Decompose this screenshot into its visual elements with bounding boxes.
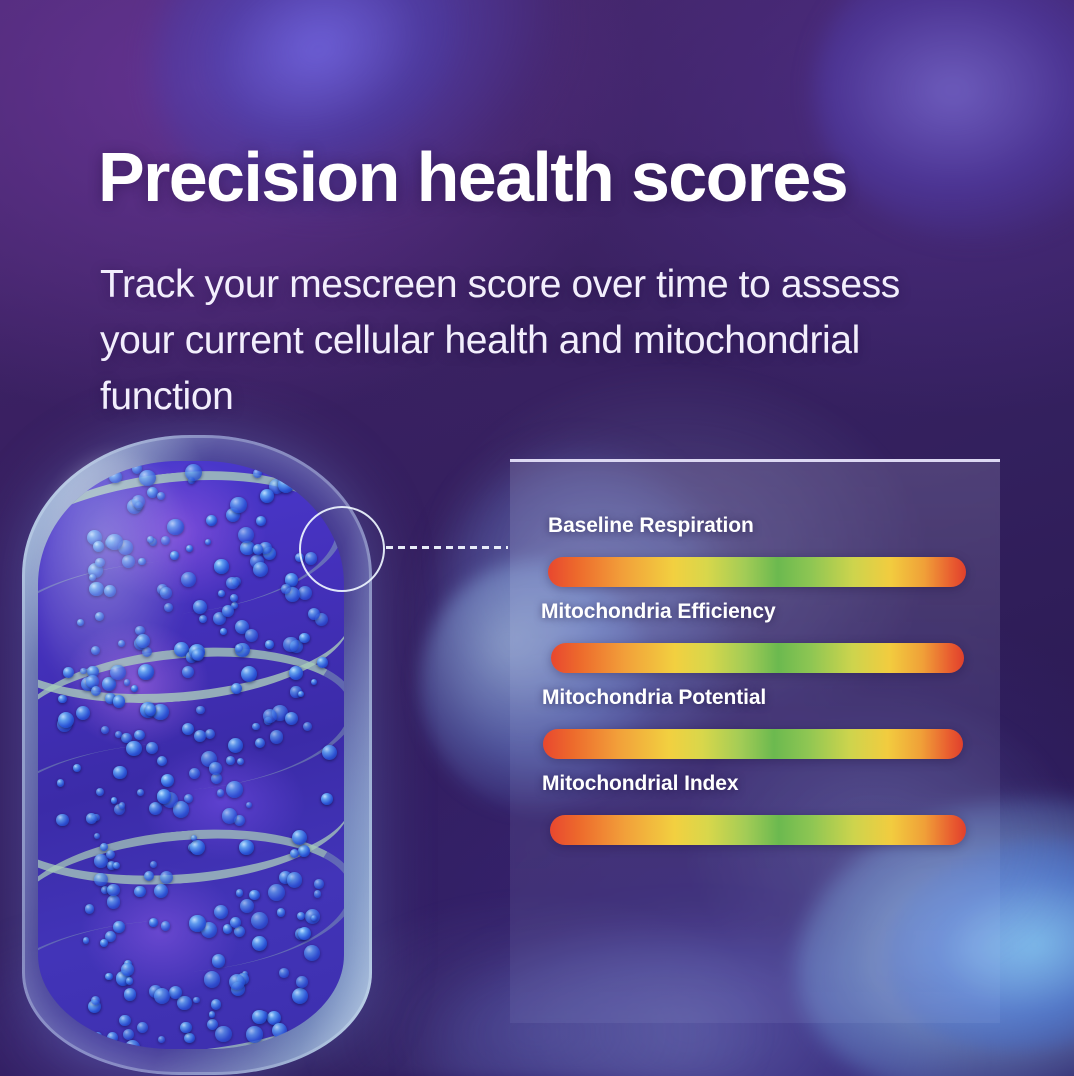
mitochondrial-granule [287,872,303,888]
mitochondrial-granule [94,1032,103,1041]
mitochondrial-granule [149,802,162,815]
mitochondrial-granule [199,615,207,623]
mitochondrial-granule [246,1026,262,1042]
mitochondrial-granule [252,723,260,731]
mitochondrial-granule [150,861,157,868]
mitochondrial-granule [311,679,317,685]
mitochondrial-granule [212,954,225,967]
mitochondrial-granule [113,695,126,708]
mitochondrial-granule [226,781,243,798]
mitochondrial-granule [226,756,235,765]
mitochondrial-granule [222,605,234,617]
mitochondrial-granule [161,921,170,930]
mitochondrial-granule [106,850,115,859]
mitochondrial-granule [86,813,97,824]
mitochondrial-granule [132,495,145,508]
mitochondrial-granule [144,871,154,881]
mitochondrial-granule [104,585,116,597]
mitochondrial-granule [76,706,90,720]
mitochondrial-granule [80,668,87,675]
mitochondrial-granule [95,558,105,568]
mitochondrial-granule [126,741,141,756]
mitochondrial-granule [317,657,327,667]
score-gradient-bar [550,815,966,845]
mitochondrial-granule [118,640,125,647]
mitochondrial-granule [57,779,65,787]
page-subtitle: Track your mescreen score over time to a… [100,257,930,425]
mitochondrial-granule [193,600,208,615]
mitochondrial-granule [209,762,221,774]
mitochondrial-granule [194,730,206,742]
mitochondrial-granule [292,830,307,845]
mitochondrial-granule [134,886,146,898]
mitochondrial-granule [91,686,101,696]
mitochondrial-granule [290,849,299,858]
mitochondrial-granule [107,1032,118,1043]
mitochondrial-granule [256,516,266,526]
mitochondrial-granule [181,572,196,587]
mitochondrial-granule [239,840,254,855]
mitochondrial-granule [241,666,257,682]
mitochondrial-granule [268,884,285,901]
mitochondrial-granule [56,814,69,827]
mitochondrial-granule [154,884,168,898]
mitochondrial-granule [260,489,274,503]
mitochondrial-granule [145,704,156,715]
mitochondrial-granule [106,534,122,550]
mitochondrial-granule [73,764,81,772]
mitochondrial-granule [285,712,299,726]
mitochondrial-granule [229,974,245,990]
mitochondrial-granule [122,555,135,568]
mitochondrial-granule [230,917,241,928]
mitochondrial-granule [93,541,104,552]
mitochondrial-granule [226,577,239,590]
mitochondrial-granule [277,908,286,917]
mitochondrial-granule [296,976,308,988]
mitochondrial-granule [77,619,84,626]
mitochondrial-granule [137,1022,148,1033]
mitochondrial-granule [281,584,291,594]
mitochondrial-granule [252,936,267,951]
mitochondrial-granule [204,971,220,987]
mitochondrial-granule [160,587,172,599]
mitochondrial-granule [255,738,265,748]
mitochondrial-granule [240,899,254,913]
mitochondrial-granule [253,562,268,577]
mitochondrial-granule [95,612,104,621]
mitochondrial-granule [206,515,217,526]
score-gradient-bar [543,729,963,759]
metric-row: Mitochondrial Index [542,772,1000,845]
mitochondrial-granule [177,996,191,1010]
mitochondrial-granule [217,789,225,797]
mitochondrial-granule [303,722,312,731]
mitochondrial-granule [138,664,154,680]
mitochondrial-granule [272,1023,287,1038]
mitochondrial-granule [209,1011,216,1018]
mitochondrial-granule [218,590,224,596]
mitochondrial-granule [137,789,144,796]
mitochondrial-granule [211,999,221,1009]
mitochondrial-granule [63,667,73,677]
mitochondrial-granule [297,912,306,921]
mitochondrial-granule [196,706,204,714]
mitochondrial-granule [113,862,120,869]
metric-label: Mitochondria Efficiency [541,600,1000,624]
mitochondrial-granule [237,758,244,765]
mitochondrial-granule [279,968,289,978]
mitochondrial-granule [158,1036,165,1043]
mitochondrial-granule [170,551,179,560]
mitochondrial-granule [123,1029,134,1040]
mitochondrial-granule [58,695,66,703]
mitochondrial-granule [89,574,96,581]
mitochondrial-granule [184,1033,194,1043]
mitochondrial-granule [161,536,170,545]
mitochondrial-granule [131,685,138,692]
mitochondrial-granule [298,586,312,600]
mitochondrial-granule [113,921,125,933]
mitochondrial-granule [292,988,308,1004]
mitochondrial-granule [107,884,119,896]
mitochondrial-granule [157,789,171,803]
mitochondrial-granule [157,756,167,766]
mitochondrial-granule [164,603,173,612]
mitochondrial-granule [253,544,263,554]
mitochondrial-granule [186,545,193,552]
dashed-connector-line [386,546,508,549]
mitochondrial-granule [85,904,95,914]
mitochondrial-granule [121,963,134,976]
mitochondrial-granule [236,889,243,896]
mitochondrial-granule [146,742,158,754]
mitochondrial-granule [246,802,252,808]
page-title: Precision health scores [98,142,998,212]
mitochondrial-granule [251,912,268,929]
mitochondrial-granule [215,1026,231,1042]
mitochondrial-granule [110,665,125,680]
mitochondrial-granule [214,559,228,573]
metric-label: Mitochondrial Index [542,772,1000,796]
mitochondrial-granule [167,519,184,536]
mitochondrial-granule [321,793,333,805]
mitochondrial-granule [231,683,242,694]
score-gradient-bar [551,643,964,673]
mitochondrial-granule [94,833,101,840]
mitochondrial-granule [253,469,262,478]
mitochondrial-granule [83,937,90,944]
mitochondrial-granule [101,726,109,734]
mitochondria-zoom-circle-icon [299,506,385,592]
mitochondrial-granule [193,997,200,1004]
mitochondrial-granule [190,840,205,855]
mitochondrial-granule [263,709,277,723]
mitochondrial-granule [189,768,200,779]
mitochondrial-granule [160,871,174,885]
mitochondrial-granule [230,594,238,602]
mitochondrial-granule [314,879,324,889]
mitochondrial-granule [185,464,202,481]
mitochondrial-granule [119,1015,131,1027]
mitochondrial-granule [182,723,194,735]
mitochondrial-granule [94,873,108,887]
mitochondrial-granule [314,890,321,897]
mitochondrial-granule [270,730,284,744]
mitochondrial-granule [214,905,228,919]
mitochondrial-granule [161,774,174,787]
mitochondrial-granule [222,808,238,824]
mitochondrial-granule [105,973,112,980]
mitochondrial-granule [182,666,194,678]
mitochondrial-granule [134,730,144,740]
metric-row: Mitochondria Potential [542,686,1000,759]
mitochondrial-granule [91,646,100,655]
hero-section: Precision health scores Track your mescr… [0,0,1074,1076]
mitochondrial-granule [205,539,211,545]
mitochondrial-granule [228,738,243,753]
mitochondrial-granule [115,731,122,738]
mitochondrial-granule [249,890,260,901]
mitochondrial-granule [289,666,303,680]
score-gradient-bar [548,557,966,587]
mitochondrial-granule [299,633,309,643]
mitochondrial-granule [192,649,204,661]
metrics-list: Baseline Respiration Mitochondria Effici… [510,462,1000,1023]
mitochondrial-granule [211,773,222,784]
mitochondrial-granule [89,582,104,597]
health-scores-panel: Baseline Respiration Mitochondria Effici… [510,459,1000,1023]
mitochondrial-granule [322,745,337,760]
mitochondrial-granule [58,712,74,728]
mitochondrial-granule [205,729,215,739]
mitochondrial-granule [136,634,150,648]
mitochondrial-granule [111,797,118,804]
mitochondrial-granule [125,1040,140,1049]
mitochondrial-granule [298,927,311,940]
mitochondrial-granule [96,788,104,796]
mitochondrial-granule [126,977,134,985]
mitochondrial-granule [107,895,120,908]
mitochondrial-granule [220,628,227,635]
mitochondrial-granule [147,536,154,543]
mitochondrial-granule [149,918,158,927]
mitochondrial-granule [265,640,274,649]
mitochondrial-granule [278,476,295,493]
mitochondrial-granule [235,644,242,651]
mitochondrial-granule [238,527,254,543]
mitochondrial-granule [157,492,165,500]
mitochondrial-granule [189,915,205,931]
mitochondrial-granule [138,558,145,565]
mitochondrial-granule [180,1022,191,1033]
metric-row: Mitochondria Efficiency [541,600,1000,673]
mitochondrial-granule [298,845,310,857]
metric-label: Mitochondria Potential [542,686,1000,710]
mitochondrial-granule [109,471,122,484]
mitochondrial-granule [113,766,126,779]
mitochondrial-granule [308,608,320,620]
mitochondrial-granule [245,629,258,642]
mitochondrial-granule [154,988,170,1004]
mitochondrial-granule [124,988,137,1001]
mitochondrial-granule [252,1010,267,1025]
mitochondrial-granule [283,637,298,652]
mitochondrial-granule [191,835,197,841]
mitochondrial-granule [230,497,246,513]
metric-row: Baseline Respiration [548,514,1000,587]
mitochondrial-granule [304,945,320,961]
mitochondrial-granule [139,470,156,487]
mitochondrial-granule [124,679,131,686]
metric-label: Baseline Respiration [548,514,1000,538]
mitochondrial-granule [298,691,304,697]
mitochondrial-granule [100,939,108,947]
